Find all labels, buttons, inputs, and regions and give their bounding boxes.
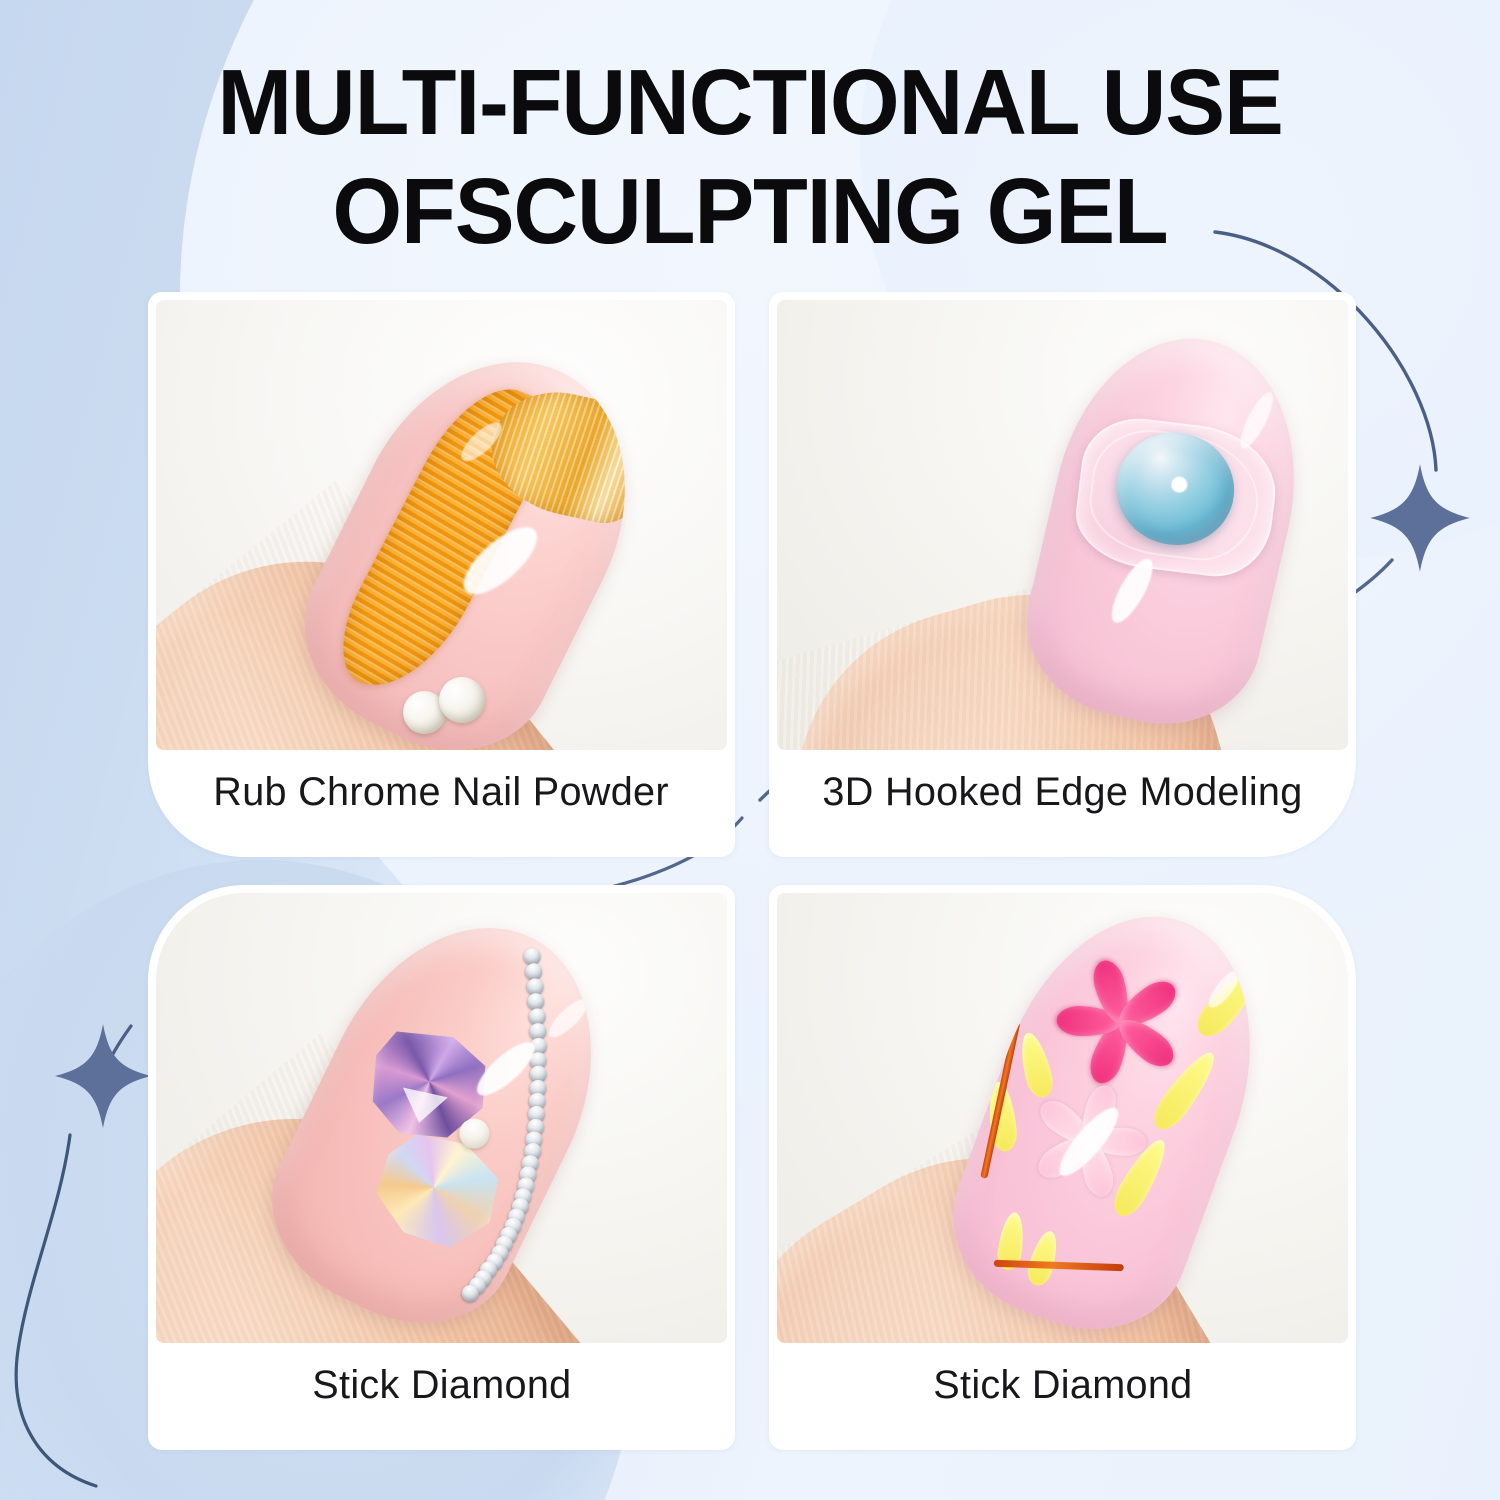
orange-accent-line bbox=[994, 1260, 1124, 1272]
card-caption: Stick Diamond bbox=[148, 1343, 735, 1450]
yellow-petal-stroke bbox=[1015, 1030, 1056, 1100]
nail-photo-chrome-powder bbox=[156, 300, 727, 750]
four-point-sparkle-icon bbox=[1368, 462, 1472, 574]
card-caption: 3D Hooked Edge Modeling bbox=[769, 750, 1356, 857]
pearl-bead bbox=[439, 677, 485, 723]
card-rub-chrome-nail-powder[interactable]: Rub Chrome Nail Powder bbox=[148, 292, 735, 857]
nail-photo-stick-diamond-crystals bbox=[156, 893, 727, 1343]
card-caption-text: Stick Diamond bbox=[933, 1363, 1192, 1408]
card-caption-text: 3D Hooked Edge Modeling bbox=[822, 770, 1302, 815]
nail-highlight bbox=[1235, 389, 1279, 452]
card-caption-text: Stick Diamond bbox=[312, 1363, 571, 1408]
page-title-line-1: MULTI-FUNCTIONAL USE bbox=[26, 48, 1474, 157]
four-point-sparkle-icon bbox=[48, 1022, 158, 1130]
yellow-petal-stroke bbox=[1024, 1228, 1063, 1288]
card-3d-hooked-edge-modeling[interactable]: 3D Hooked Edge Modeling bbox=[769, 292, 1356, 857]
page-title-line-2: OFSCULPTING GEL bbox=[26, 157, 1474, 266]
card-stick-diamond-crystals[interactable]: Stick Diamond bbox=[148, 885, 735, 1450]
card-caption: Stick Diamond bbox=[769, 1343, 1356, 1450]
nail-photo-stick-diamond-flowers bbox=[777, 893, 1348, 1343]
card-stick-diamond-flowers[interactable]: Stick Diamond bbox=[769, 885, 1356, 1450]
curve-segment-bottom-left bbox=[16, 1135, 96, 1486]
card-caption: Rub Chrome Nail Powder bbox=[148, 750, 735, 857]
nail-photo-hooked-edge bbox=[777, 300, 1348, 750]
feature-card-grid: Rub Chrome Nail Powder 3D Hooked Edge Mo… bbox=[148, 292, 1356, 1450]
page-title: MULTI-FUNCTIONAL USE OFSCULPTING GEL bbox=[0, 48, 1500, 266]
card-caption-text: Rub Chrome Nail Powder bbox=[214, 770, 670, 815]
